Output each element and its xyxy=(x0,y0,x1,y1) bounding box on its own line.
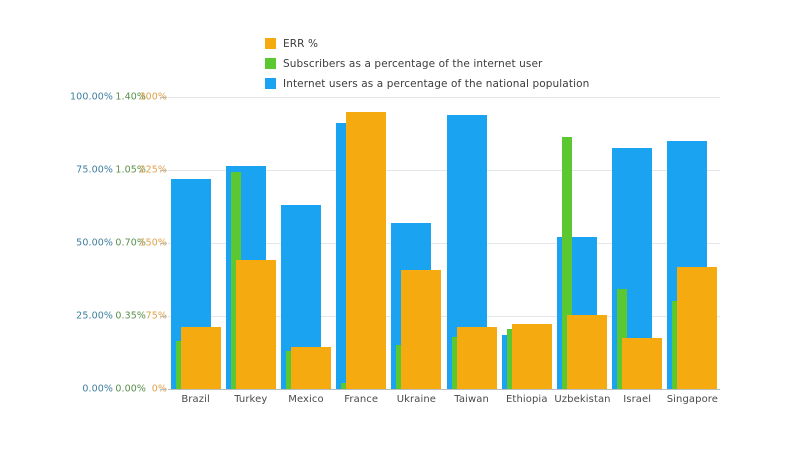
axis-tick-label: 0.35% xyxy=(115,311,146,322)
bar-group xyxy=(610,97,665,389)
axis-tick-label: 0.00% xyxy=(115,384,146,395)
axis-tick-label: 50.00% xyxy=(76,238,113,249)
bar-group xyxy=(444,97,499,389)
bar-orange[interactable] xyxy=(291,347,331,389)
x-axis-label: Turkey xyxy=(223,394,278,405)
x-axis-label: Brazil xyxy=(168,394,223,405)
x-axis-label: Mexico xyxy=(278,394,333,405)
axis-baseline xyxy=(168,389,720,390)
x-axis-label: Singapore xyxy=(665,394,720,405)
legend-item-internet-users[interactable]: Internet users as a percentage of the na… xyxy=(265,74,685,93)
x-axis-label: Taiwan xyxy=(444,394,499,405)
bar-group xyxy=(334,97,389,389)
x-axis-label: France xyxy=(334,394,389,405)
x-axis-label: Ukraine xyxy=(389,394,444,405)
bar-group xyxy=(665,97,720,389)
square-swatch-icon xyxy=(265,58,276,69)
axis-tick-label: 0.00% xyxy=(82,384,113,395)
plot-area xyxy=(168,97,720,389)
axis-tick-mark xyxy=(160,243,167,244)
legend-item-label: Internet users as a percentage of the na… xyxy=(283,78,589,90)
x-axis-labels: BrazilTurkeyMexicoFranceUkraineTaiwanEth… xyxy=(168,394,720,414)
axis-tick-mark xyxy=(160,316,167,317)
axis-tick-mark xyxy=(160,389,167,390)
bar-orange[interactable] xyxy=(181,327,221,389)
x-axis-label: Uzbekistan xyxy=(554,394,609,405)
bar-orange[interactable] xyxy=(677,267,717,389)
axis-tick-label: 75.00% xyxy=(76,165,113,176)
chart-container: ERR % Subscribers as a percentage of the… xyxy=(0,0,800,450)
legend-item-label: ERR % xyxy=(283,38,318,50)
x-axis-label: Israel xyxy=(610,394,665,405)
bar-group xyxy=(389,97,444,389)
square-swatch-icon xyxy=(265,38,276,49)
legend-item-label: Subscribers as a percentage of the inter… xyxy=(283,58,542,70)
bar-group xyxy=(499,97,554,389)
bar-group xyxy=(223,97,278,389)
bar-group xyxy=(554,97,609,389)
axis-tick-mark xyxy=(160,170,167,171)
bar-group xyxy=(168,97,223,389)
bar-orange[interactable] xyxy=(401,270,441,389)
legend-item-subscribers[interactable]: Subscribers as a percentage of the inter… xyxy=(265,54,685,73)
bar-orange[interactable] xyxy=(457,327,497,389)
square-swatch-icon xyxy=(265,78,276,89)
bar-orange[interactable] xyxy=(622,338,662,389)
bar-orange[interactable] xyxy=(512,324,552,389)
bar-orange[interactable] xyxy=(567,315,607,389)
y-axis-internet-users: 100.00%75.00%50.00%25.00%0.00% xyxy=(64,97,113,389)
bar-orange[interactable] xyxy=(236,260,276,389)
chart-legend: ERR % Subscribers as a percentage of the… xyxy=(265,34,685,94)
axis-tick-label: 25.00% xyxy=(76,311,113,322)
bar-orange[interactable] xyxy=(346,112,386,389)
axis-tick-label: 100.00% xyxy=(70,92,113,103)
x-axis-label: Ethiopia xyxy=(499,394,554,405)
axis-tick-mark xyxy=(160,97,167,98)
legend-item-err[interactable]: ERR % xyxy=(265,34,685,53)
bar-group xyxy=(278,97,333,389)
